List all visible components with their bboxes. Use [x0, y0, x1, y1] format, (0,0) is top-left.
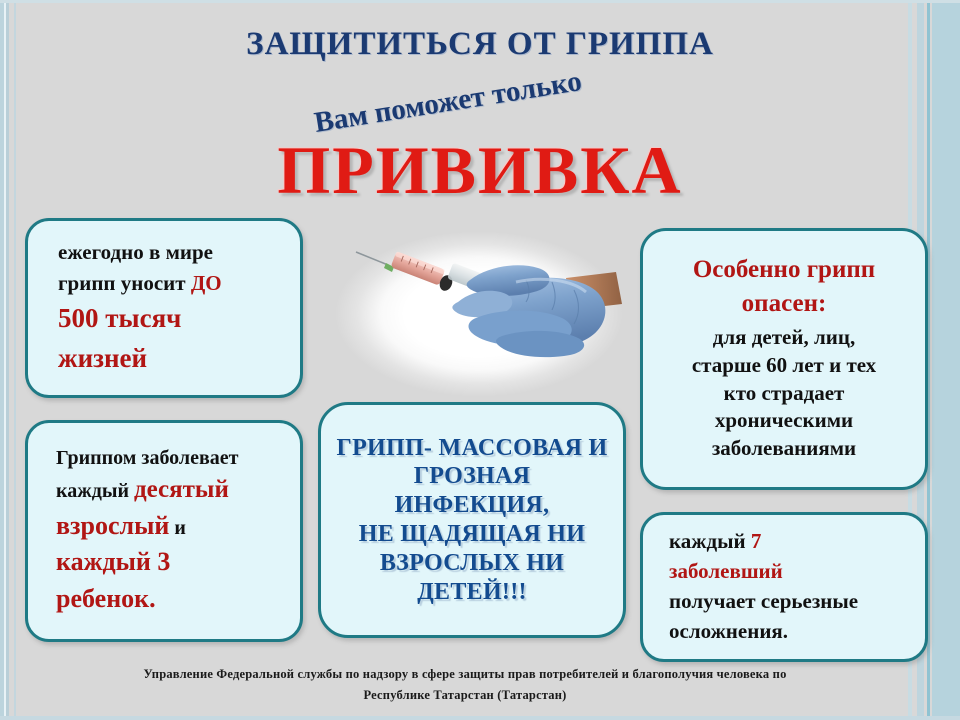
- tenth-line-3: взрослый и: [40, 508, 288, 545]
- border-strip-bottom: [0, 716, 960, 720]
- dangerous-body-5: заболеваниями: [653, 435, 915, 463]
- seventh-line-4: осложнения.: [657, 617, 911, 647]
- tenth-line-3-highlight: взрослый: [56, 511, 169, 540]
- annual-line-4: жизней: [42, 339, 286, 379]
- mass-line-4: ВЗРОСЛЫХ НИ: [335, 549, 609, 578]
- border-strip-left-gap: [9, 0, 14, 720]
- dangerous-head-2: опасен:: [653, 289, 915, 320]
- gloved-hand-holding-syringe-icon: [330, 222, 640, 408]
- info-box-every-tenth: Гриппом заболевает каждый десятый взросл…: [25, 420, 303, 642]
- dangerous-body-1: для детей, лиц,: [653, 324, 915, 352]
- info-box-every-seventh: каждый 7 заболевший получает серьезные о…: [640, 512, 928, 662]
- annual-line-1: ежегодно в мире: [42, 237, 286, 268]
- info-box-especially-dangerous: Особенно грипп опасен: для детей, лиц, с…: [640, 228, 928, 490]
- tenth-line-4: каждый 3: [40, 544, 288, 581]
- mass-line-5: ДЕТЕЙ!!!: [335, 578, 609, 607]
- footer-attribution: Управление Федеральной службы по надзору…: [0, 664, 930, 707]
- syringe-illustration: [330, 222, 640, 408]
- dangerous-body-3: кто страдает: [653, 380, 915, 408]
- seventh-line-1: каждый 7: [657, 527, 911, 557]
- tenth-line-3-plain: и: [169, 517, 186, 539]
- tenth-line-5: ребенок.: [40, 581, 288, 618]
- dangerous-body-4: хроническими: [653, 407, 915, 435]
- poster-root: ЗАЩИТИТЬСЯ ОТ ГРИППА Вам поможет только …: [0, 0, 960, 720]
- page-title: ЗАЩИТИТЬСЯ ОТ ГРИППА: [0, 26, 960, 63]
- border-strip-left-thin: [14, 0, 16, 720]
- annual-line-3: 500 тысяч: [42, 299, 286, 339]
- info-box-annual-deaths: ежегодно в мире грипп уносит ДО 500 тыся…: [25, 218, 303, 398]
- footer-line-2: Республике Татарстан (Татарстан): [0, 685, 930, 706]
- dangerous-body-2: старше 60 лет и тех: [653, 352, 915, 380]
- mass-line-3: НЕ ЩАДЯЩАЯ НИ: [335, 520, 609, 549]
- tenth-line-2: каждый десятый: [40, 472, 288, 508]
- tenth-line-1: Гриппом заболевает: [40, 444, 288, 472]
- tenth-line-2-highlight: десятый: [134, 476, 229, 503]
- seventh-line-1-number: 7: [751, 529, 762, 553]
- annual-line-2-plain: грипп уносит: [58, 271, 191, 295]
- seventh-line-2: заболевший: [657, 557, 911, 587]
- border-strip-left-outer: [0, 0, 4, 720]
- dangerous-head-1: Особенно грипп: [653, 255, 915, 286]
- footer-line-1: Управление Федеральной службы по надзору…: [0, 664, 930, 685]
- info-box-mass-infection: ГРИПП- МАССОВАЯ И ГРОЗНАЯ ИНФЕКЦИЯ, НЕ Щ…: [318, 402, 626, 638]
- annual-line-2: грипп уносит ДО: [42, 268, 286, 299]
- seventh-line-3: получает серьезные: [657, 587, 911, 617]
- annual-line-2-highlight: ДО: [191, 271, 222, 295]
- border-strip-top: [0, 0, 960, 3]
- border-strip-left-mid: [6, 0, 9, 720]
- seventh-line-1-plain: каждый: [669, 529, 751, 553]
- mass-line-2: ГРОЗНАЯ ИНФЕКЦИЯ,: [335, 462, 609, 520]
- page-headline-vaccination: ПРИВИВКА: [0, 136, 960, 204]
- border-strip-right-wide: [932, 0, 960, 720]
- border-strip-left-light: [4, 0, 6, 720]
- mass-line-1: ГРИПП- МАССОВАЯ И: [335, 434, 609, 463]
- tenth-line-2-plain: каждый: [56, 480, 134, 502]
